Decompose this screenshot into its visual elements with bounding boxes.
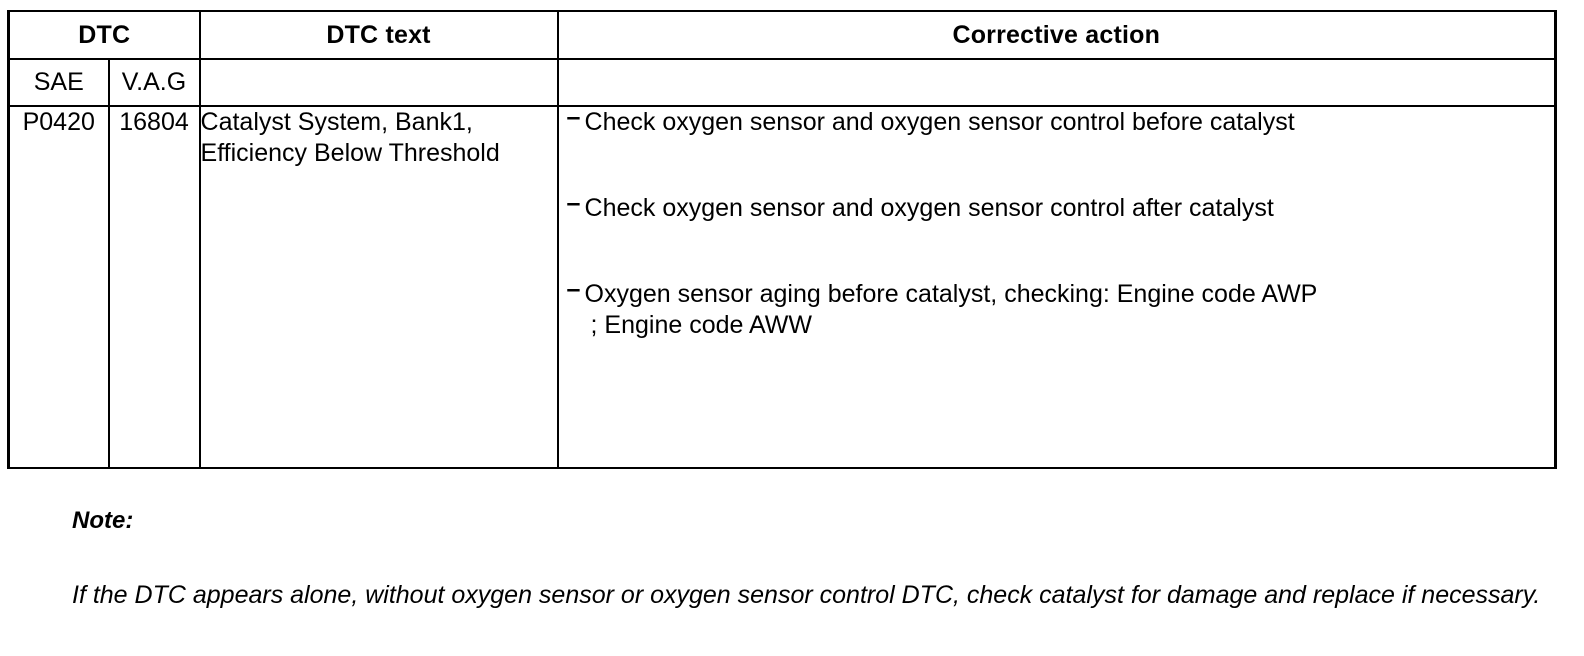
header-dtc: DTC — [9, 11, 200, 59]
dtc-text-line-1: Catalyst System, Bank1, — [201, 108, 473, 136]
corrective-action-continuation: ; Engine code AWW — [585, 310, 1554, 341]
subheader-dtc-text-blank — [200, 59, 558, 106]
dtc-table: DTC DTC text Corrective action SAE V.A.G… — [7, 10, 1557, 469]
dash-bullet-icon: – — [567, 274, 581, 305]
subheader-sae: SAE — [9, 59, 109, 106]
corrective-action-text: Oxygen sensor aging before catalyst, che… — [585, 280, 1318, 308]
header-corrective-action: Corrective action — [558, 11, 1556, 59]
table-subheader-row: SAE V.A.G — [9, 59, 1556, 106]
corrective-action-text: Check oxygen sensor and oxygen sensor co… — [585, 108, 1295, 136]
note-title: Note: — [72, 506, 1552, 536]
dash-bullet-icon: – — [567, 188, 581, 219]
note-block: Note: If the DTC appears alone, without … — [72, 506, 1552, 611]
table-header-row: DTC DTC text Corrective action — [9, 11, 1556, 59]
corrective-action-item: – Oxygen sensor aging before catalyst, c… — [559, 279, 1554, 341]
note-body: If the DTC appears alone, without oxygen… — [72, 580, 1550, 611]
corrective-action-text: Check oxygen sensor and oxygen sensor co… — [585, 194, 1274, 222]
subheader-vag: V.A.G — [109, 59, 200, 106]
cell-sae-code: P0420 — [9, 106, 109, 468]
table-row: P0420 16804 Catalyst System, Bank1, Effi… — [9, 106, 1556, 468]
corrective-action-item: – Check oxygen sensor and oxygen sensor … — [559, 107, 1554, 138]
cell-dtc-text: Catalyst System, Bank1, Efficiency Below… — [200, 106, 558, 468]
subheader-corrective-action-blank — [558, 59, 1556, 106]
dash-bullet-icon: – — [567, 102, 581, 133]
cell-vag-code: 16804 — [109, 106, 200, 468]
dtc-text-line-2: Efficiency Below Threshold — [201, 138, 557, 169]
corrective-action-item: – Check oxygen sensor and oxygen sensor … — [559, 193, 1554, 224]
cell-corrective-action: – Check oxygen sensor and oxygen sensor … — [558, 106, 1556, 468]
header-dtc-text: DTC text — [200, 11, 558, 59]
